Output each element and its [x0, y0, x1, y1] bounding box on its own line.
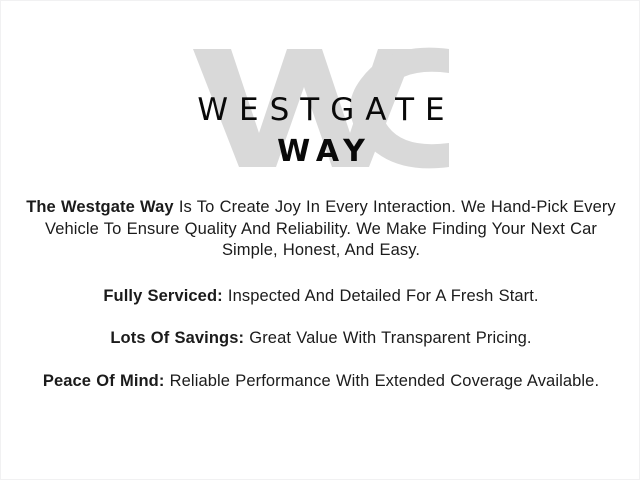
dealer-copy-block: The Westgate Way Is To Create Joy In Eve… — [15, 197, 627, 392]
intro-lead: The Westgate Way — [26, 198, 173, 216]
feature-lots-of-savings: Lots Of Savings: Great Value With Transp… — [15, 328, 627, 350]
intro-paragraph: The Westgate Way Is To Create Joy In Eve… — [15, 197, 627, 262]
feature-lead: Fully Serviced: — [103, 287, 222, 305]
feature-body: Great Value With Transparent Pricing. — [244, 329, 532, 347]
dealer-info-card: WESTGATE WAY The Westgate Way Is To Crea… — [0, 0, 640, 480]
wordmark-westgate: WESTGATE — [1, 93, 640, 127]
feature-fully-serviced: Fully Serviced: Inspected And Detailed F… — [15, 286, 627, 308]
brand-logo: WESTGATE WAY — [1, 47, 640, 183]
feature-peace-of-mind: Peace Of Mind: Reliable Performance With… — [15, 371, 627, 393]
wordmark-way: WAY — [1, 135, 640, 169]
feature-body: Inspected And Detailed For A Fresh Start… — [223, 287, 539, 305]
feature-lead: Lots Of Savings: — [110, 329, 244, 347]
feature-body: Reliable Performance With Extended Cover… — [164, 372, 599, 390]
feature-lead: Peace Of Mind: — [43, 372, 165, 390]
